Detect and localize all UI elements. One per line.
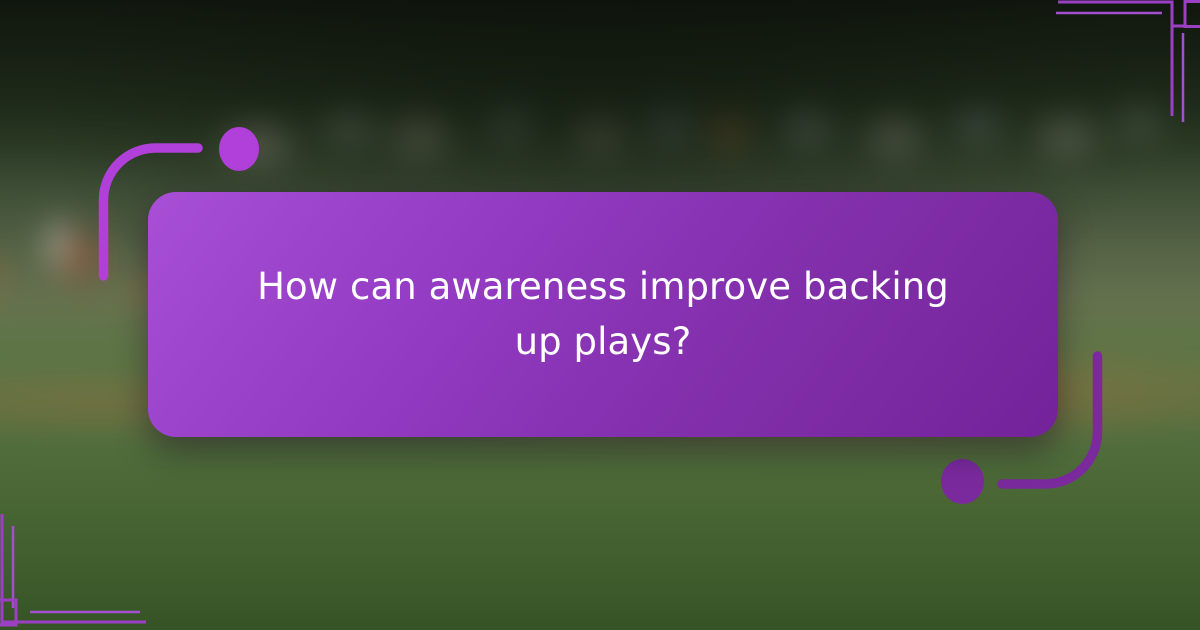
accent-dot-top-left: [219, 127, 259, 171]
question-card: How can awareness improve backing up pla…: [148, 192, 1058, 437]
accent-dot-bottom-right: [941, 459, 984, 504]
card-title: How can awareness improve backing up pla…: [253, 260, 953, 370]
og-card-canvas: How can awareness improve backing up pla…: [0, 0, 1200, 630]
